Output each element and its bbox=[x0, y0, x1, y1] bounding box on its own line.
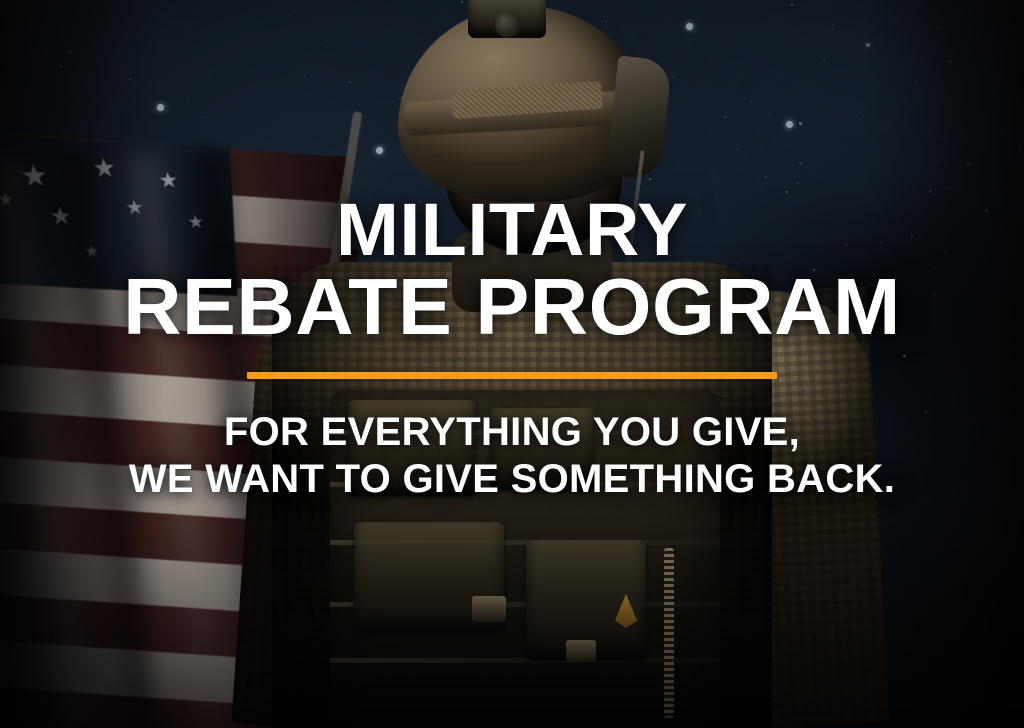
orange-divider bbox=[247, 372, 777, 379]
military-rebate-banner: ★★★★★★★★ bbox=[0, 0, 1024, 728]
banner-subheadline: FOR EVERYTHING YOU GIVE, WE WANT TO GIVE… bbox=[129, 409, 895, 503]
subheadline-line-2: WE WANT TO GIVE SOMETHING BACK. bbox=[129, 456, 895, 503]
banner-content: MILITARY REBATE PROGRAM FOR EVERYTHING Y… bbox=[0, 0, 1024, 728]
headline-line-1: MILITARY bbox=[119, 196, 904, 264]
headline-line-2: REBATE PROGRAM bbox=[123, 270, 901, 344]
page-title: MILITARY REBATE PROGRAM bbox=[127, 196, 897, 344]
subheadline-line-1: FOR EVERYTHING YOU GIVE, bbox=[129, 409, 895, 456]
